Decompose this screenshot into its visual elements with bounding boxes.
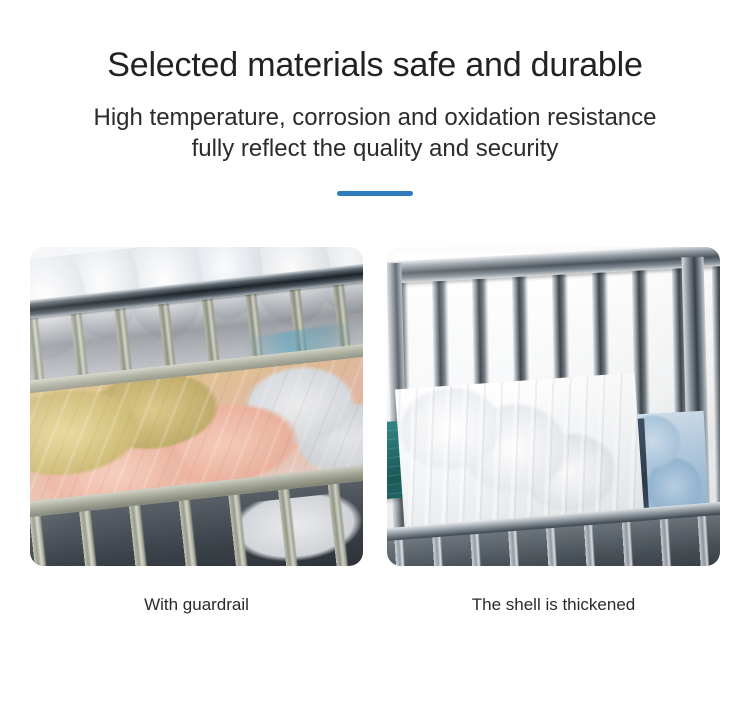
page-subtitle: High temperature, corrosion and oxidatio… bbox=[35, 102, 715, 164]
subtitle-line-2: fully reflect the quality and security bbox=[35, 133, 715, 164]
photo-caption-shell-thickened: The shell is thickened bbox=[387, 594, 720, 616]
product-photo-with-guardrail[interactable] bbox=[30, 247, 363, 566]
page-title: Selected materials safe and durable bbox=[0, 44, 750, 86]
header: Selected materials safe and durable High… bbox=[0, 0, 750, 200]
divider-container bbox=[0, 186, 750, 200]
photo-caption-with-guardrail: With guardrail bbox=[30, 594, 363, 616]
accent-divider bbox=[337, 191, 413, 196]
gallery-item-with-guardrail[interactable]: With guardrail bbox=[30, 247, 363, 616]
subtitle-line-1: High temperature, corrosion and oxidatio… bbox=[35, 102, 715, 133]
product-photo-shell-thickened[interactable] bbox=[387, 247, 720, 566]
image-gallery: With guardrail The s bbox=[30, 247, 720, 616]
promo-page: Selected materials safe and durable High… bbox=[0, 0, 750, 714]
gallery-item-shell-thickened[interactable]: The shell is thickened bbox=[387, 247, 720, 616]
